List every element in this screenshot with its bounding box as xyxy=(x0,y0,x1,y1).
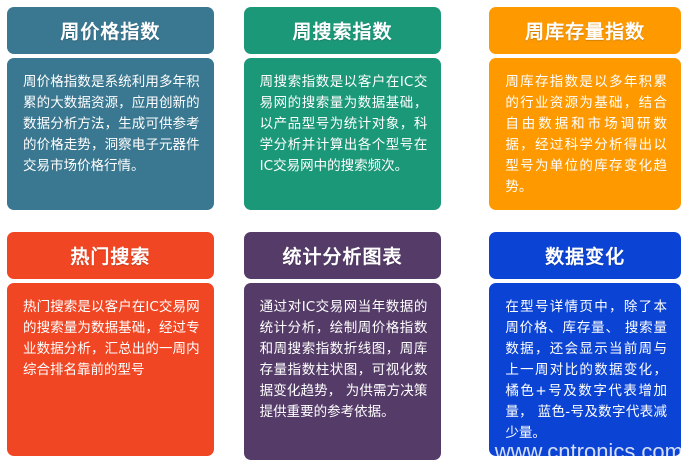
card-title-hot-search: 热门搜索 xyxy=(7,232,214,279)
card-week-search-index[interactable]: 周搜索指数 周搜索指数是以客户在IC交易网的搜索量为数据基础，以产品型号为统计对… xyxy=(230,0,460,218)
card-statistical-charts[interactable]: 统计分析图表 通过对IC交易网当年数据的统计分析，绘制周价格指数和周搜索指数折线… xyxy=(230,218,460,468)
card-week-price-index[interactable]: 周价格指数 周价格指数是系统利用多年积累的大数据资源，应用创新的数据分析方法，生… xyxy=(0,0,230,218)
card-week-inventory-index[interactable]: 周库存量指数 周库存指数是以多年积累的行业资源为基础，结合自由数据和市场调研数据… xyxy=(459,0,689,218)
card-title-statistical-charts: 统计分析图表 xyxy=(244,232,442,279)
card-title-week-price-index: 周价格指数 xyxy=(7,7,214,54)
card-container: 周库存量指数 周库存指数是以多年积累的行业资源为基础，结合自由数据和市场调研数据… xyxy=(489,7,681,210)
card-body-week-inventory-index: 周库存指数是以多年积累的行业资源为基础，结合自由数据和市场调研数据，经过科学分析… xyxy=(489,58,681,210)
card-data-change[interactable]: 数据变化 在型号详情页中，除了本周价格、库存量、 搜索量数据，还会显示当前周与上… xyxy=(459,218,689,468)
card-title-week-search-index: 周搜索指数 xyxy=(244,7,442,54)
card-container: 热门搜索 热门搜索是以客户在IC交易网的搜索量为数据基础，经过专业数据分析，汇总… xyxy=(7,232,214,456)
card-body-statistical-charts: 通过对IC交易网当年数据的统计分析，绘制周价格指数和周搜索指数折线图，周库 存量… xyxy=(244,283,442,460)
feature-card-grid: 周价格指数 周价格指数是系统利用多年积累的大数据资源，应用创新的数据分析方法，生… xyxy=(0,0,689,433)
card-hot-search[interactable]: 热门搜索 热门搜索是以客户在IC交易网的搜索量为数据基础，经过专业数据分析，汇总… xyxy=(0,218,230,468)
card-container: 周搜索指数 周搜索指数是以客户在IC交易网的搜索量为数据基础，以产品型号为统计对… xyxy=(244,7,442,210)
card-body-hot-search: 热门搜索是以客户在IC交易网的搜索量为数据基础，经过专业数据分析，汇总出的一周内… xyxy=(7,283,214,456)
card-container: 统计分析图表 通过对IC交易网当年数据的统计分析，绘制周价格指数和周搜索指数折线… xyxy=(244,232,442,460)
card-container: 周价格指数 周价格指数是系统利用多年积累的大数据资源，应用创新的数据分析方法，生… xyxy=(7,7,214,210)
card-container: 数据变化 在型号详情页中，除了本周价格、库存量、 搜索量数据，还会显示当前周与上… xyxy=(489,232,681,456)
card-title-week-inventory-index: 周库存量指数 xyxy=(489,7,681,54)
card-title-data-change: 数据变化 xyxy=(489,232,681,279)
card-body-week-search-index: 周搜索指数是以客户在IC交易网的搜索量为数据基础，以产品型号为统计对象，科学分析… xyxy=(244,58,442,210)
card-body-week-price-index: 周价格指数是系统利用多年积累的大数据资源，应用创新的数据分析方法，生成可供参考的… xyxy=(7,58,214,210)
site-watermark: www.cntronics.com xyxy=(495,441,681,456)
card-body-data-change: 在型号详情页中，除了本周价格、库存量、 搜索量数据，还会显示当前周与上一周对比的… xyxy=(489,283,681,456)
